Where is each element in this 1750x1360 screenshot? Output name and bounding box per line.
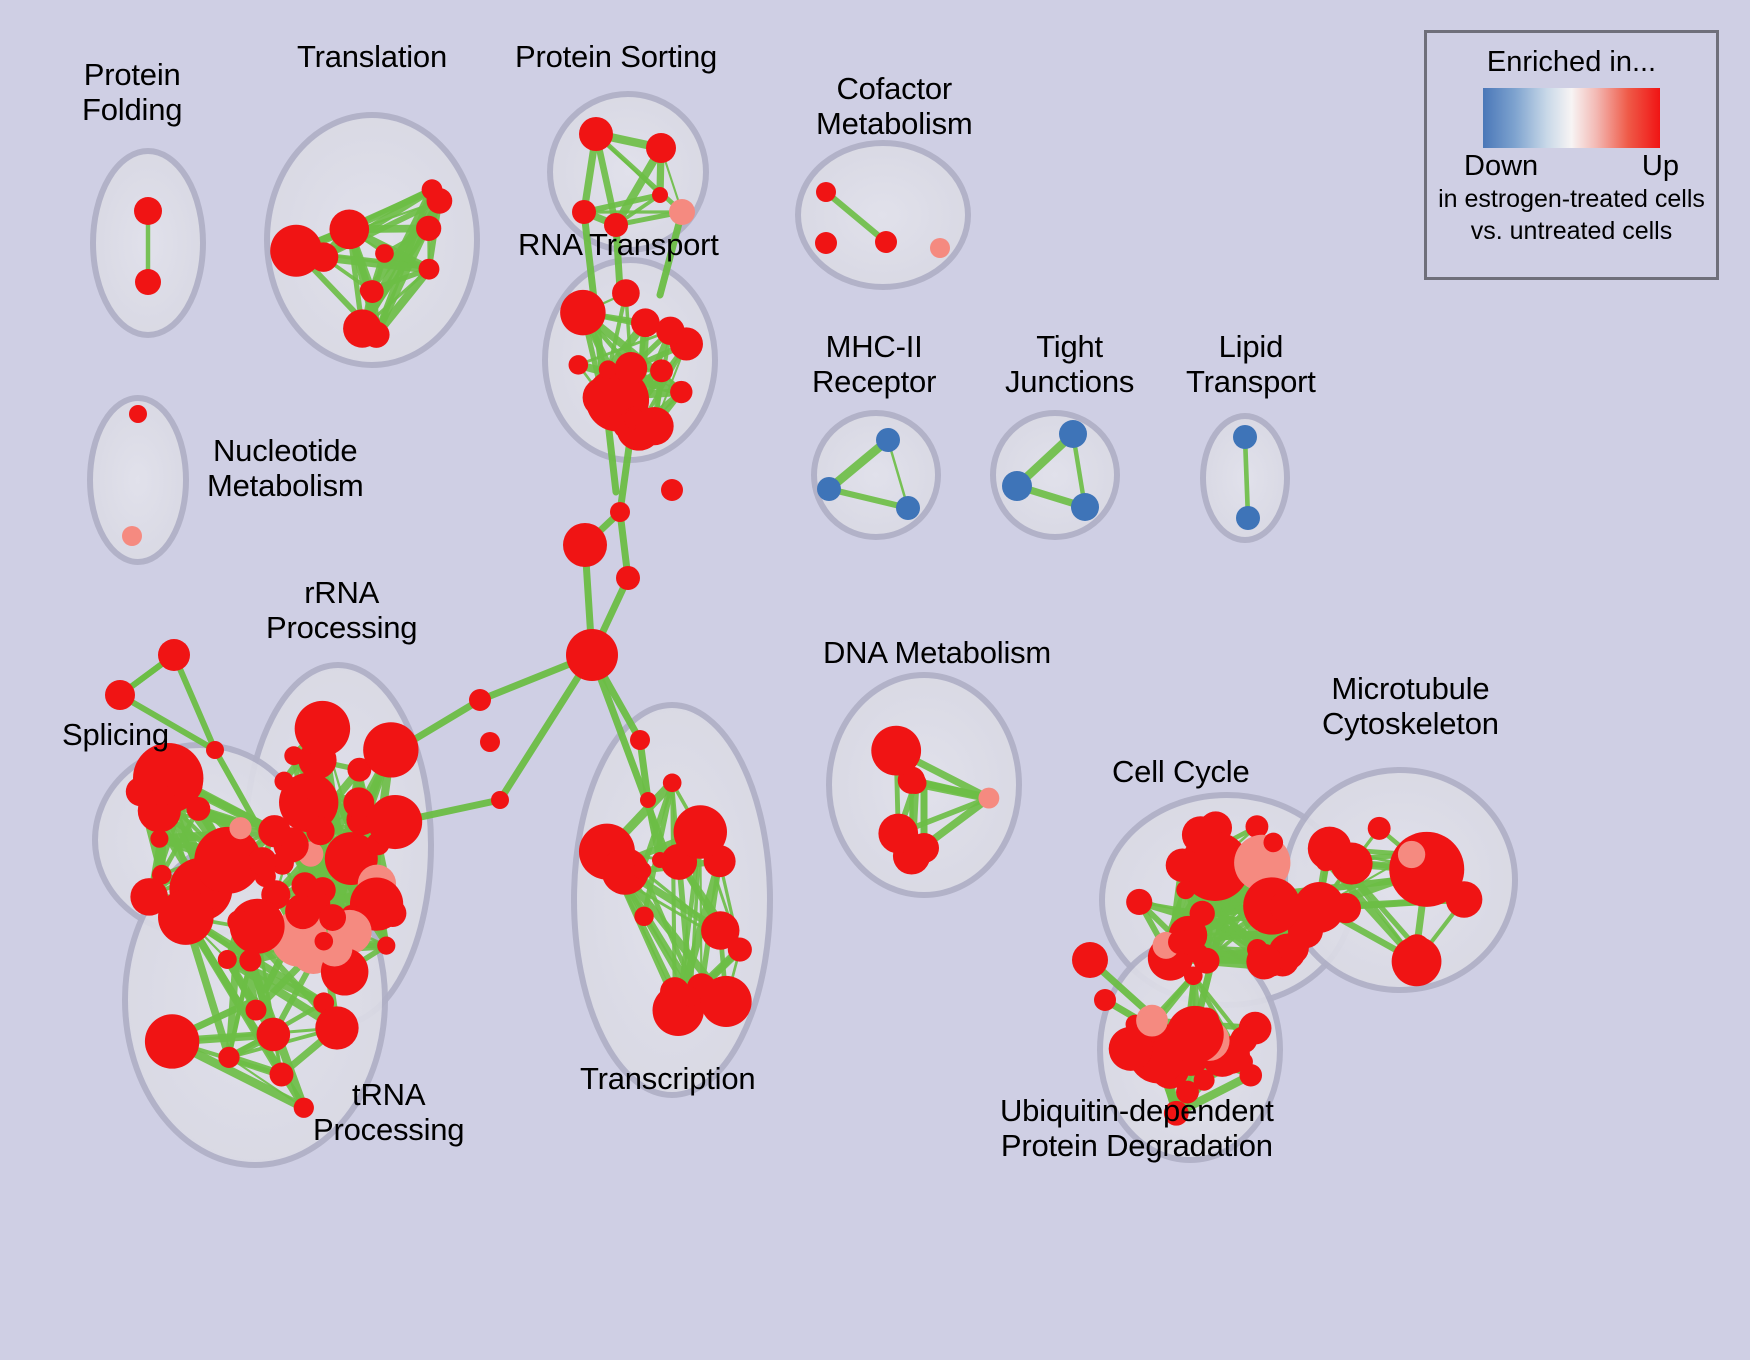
network-node	[1403, 934, 1430, 961]
network-node	[909, 833, 939, 863]
network-node	[469, 689, 491, 711]
network-node	[1166, 1006, 1223, 1063]
network-node	[329, 209, 369, 249]
network-node	[129, 405, 147, 423]
network-node	[616, 566, 640, 590]
legend-box: Enriched in... Down Up in estrogen-treat…	[1424, 30, 1719, 280]
network-node	[701, 976, 752, 1027]
network-node	[583, 377, 623, 417]
network-node	[566, 629, 618, 681]
network-node	[1126, 889, 1152, 915]
network-edge	[672, 783, 675, 992]
network-node	[1293, 884, 1342, 933]
network-node	[206, 741, 224, 759]
network-node	[569, 355, 589, 375]
network-node	[315, 932, 334, 951]
network-node	[152, 865, 172, 885]
network-node	[650, 359, 673, 382]
network-node	[1368, 817, 1391, 840]
legend-color-bar	[1483, 88, 1660, 148]
network-node	[663, 773, 682, 792]
network-node	[274, 772, 293, 791]
network-node	[630, 730, 650, 750]
network-node	[660, 977, 689, 1006]
network-node	[633, 861, 651, 879]
network-node	[669, 199, 695, 225]
network-node	[816, 182, 836, 202]
network-node	[1071, 493, 1099, 521]
network-node	[1398, 841, 1425, 868]
cluster-label-trna-processing: tRNA Processing	[313, 1078, 464, 1147]
network-node	[285, 894, 320, 929]
cluster-label-cell-cycle: Cell Cycle	[1112, 755, 1250, 790]
legend-low-label: Down	[1464, 150, 1538, 183]
network-node	[1002, 471, 1032, 501]
network-node	[1236, 506, 1260, 530]
cluster-label-rna-transport: RNA Transport	[518, 228, 719, 263]
network-node	[560, 290, 605, 335]
network-node	[361, 280, 384, 303]
network-node	[343, 787, 374, 818]
cluster-label-protein-sorting: Protein Sorting	[515, 40, 717, 75]
network-node	[1182, 816, 1219, 853]
legend-caption-line1: in estrogen-treated cells	[1427, 185, 1716, 215]
network-node	[646, 133, 676, 163]
network-node	[1230, 1026, 1257, 1053]
network-node	[269, 1063, 293, 1087]
network-node	[135, 269, 161, 295]
network-node	[1176, 880, 1195, 899]
network-node	[1315, 850, 1336, 871]
network-node	[229, 817, 251, 839]
network-node	[871, 726, 921, 776]
network-node	[817, 477, 841, 501]
cluster-label-tight-junctions: Tight Junctions	[1005, 330, 1134, 399]
cluster-label-protein-folding: Protein Folding	[82, 58, 182, 127]
network-node	[1190, 901, 1215, 926]
network-node	[670, 381, 692, 403]
cluster-label-lipid-transport: Lipid Transport	[1186, 330, 1316, 399]
network-node	[245, 1000, 266, 1021]
network-node	[876, 428, 900, 452]
network-node	[1094, 989, 1116, 1011]
network-node	[1136, 1005, 1168, 1037]
network-node	[572, 200, 596, 224]
network-node	[158, 889, 214, 945]
network-node	[156, 1033, 174, 1051]
network-edge	[1245, 437, 1248, 518]
network-node	[1446, 881, 1483, 918]
cluster-label-dna-metabolism: DNA Metabolism	[823, 636, 1051, 671]
network-node	[978, 788, 999, 809]
network-node	[227, 910, 250, 933]
cluster-label-mhc-ii-receptor: MHC-II Receptor	[812, 330, 936, 399]
network-node	[1246, 815, 1269, 838]
network-node	[270, 225, 322, 277]
legend-title: Enriched in...	[1427, 46, 1716, 79]
network-node	[302, 879, 320, 897]
network-node	[815, 232, 837, 254]
legend-caption-line2: vs. untreated cells	[1427, 217, 1716, 247]
network-node	[615, 352, 648, 385]
network-node	[661, 479, 683, 501]
network-node	[579, 117, 613, 151]
network-node	[151, 785, 172, 806]
network-node	[1072, 942, 1108, 978]
network-node	[1246, 944, 1282, 980]
cluster-label-ubiquitin-protein-degradation: Ubiquitin-dependent Protein Degradation	[1000, 1094, 1274, 1163]
network-node	[287, 798, 319, 830]
network-node	[480, 732, 500, 752]
network-node	[1187, 943, 1208, 964]
network-node	[239, 949, 261, 971]
network-node	[875, 231, 897, 253]
cluster-label-cofactor-metabolism: Cofactor Metabolism	[816, 72, 973, 141]
network-node	[610, 502, 630, 522]
network-node	[1233, 425, 1257, 449]
network-node	[563, 523, 607, 567]
network-node	[315, 1006, 358, 1049]
network-node	[218, 1047, 239, 1068]
network-node	[631, 308, 660, 337]
cluster-label-rrna-processing: rRNA Processing	[266, 576, 417, 645]
network-node	[635, 407, 673, 445]
cluster-label-translation: Translation	[297, 40, 447, 75]
network-node	[1239, 1064, 1262, 1087]
network-node	[375, 244, 394, 263]
network-node	[134, 197, 162, 225]
network-node	[294, 1098, 314, 1118]
network-node	[595, 860, 614, 879]
cluster-halo-cofactor-metabolism	[798, 143, 968, 287]
network-node	[158, 639, 190, 671]
network-node	[1059, 420, 1087, 448]
network-node	[150, 830, 168, 848]
network-node	[652, 852, 668, 868]
network-node	[258, 815, 290, 847]
network-node	[599, 360, 618, 379]
cluster-label-splicing: Splicing	[62, 718, 169, 753]
cluster-halo-mhc-ii-receptor	[814, 413, 938, 537]
network-node	[319, 904, 346, 931]
network-node	[1263, 833, 1283, 853]
network-node	[701, 911, 739, 949]
network-node	[416, 216, 441, 241]
cluster-label-nucleotide-metabolism: Nucleotide Metabolism	[207, 434, 364, 503]
network-node	[491, 791, 509, 809]
network-node	[656, 317, 684, 345]
network-node	[343, 309, 381, 347]
network-node	[896, 496, 920, 520]
network-node	[419, 259, 440, 280]
network-node	[612, 279, 640, 307]
network-node	[248, 847, 276, 875]
cluster-label-microtubule-cytoskeleton: Microtubule Cytoskeleton	[1322, 672, 1499, 741]
network-node	[640, 792, 656, 808]
network-node	[1184, 967, 1203, 986]
network-node	[377, 937, 395, 955]
network-node	[427, 188, 453, 214]
network-node	[218, 950, 237, 969]
legend-high-label: Up	[1642, 150, 1679, 183]
network-node	[930, 238, 950, 258]
network-node	[122, 526, 142, 546]
network-node	[674, 805, 727, 858]
network-figure: Protein FoldingTranslationNucleotide Met…	[0, 0, 1750, 1360]
network-node	[363, 722, 418, 777]
network-node	[257, 1018, 291, 1052]
network-node	[634, 907, 653, 926]
cluster-label-transcription: Transcription	[580, 1062, 755, 1097]
network-node	[105, 680, 135, 710]
network-node	[295, 701, 350, 756]
network-node	[652, 187, 668, 203]
